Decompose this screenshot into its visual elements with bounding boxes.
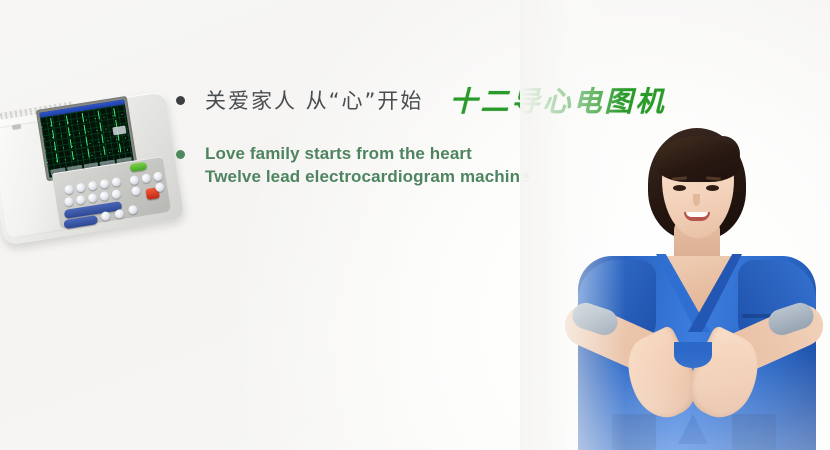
device-keypad-key[interactable] [131, 186, 141, 196]
bullet-dot-icon [176, 96, 185, 105]
device-keypad-key[interactable] [76, 195, 86, 205]
headline-row: 关爱家人 从“心”开始 十二导心电图机 [176, 78, 696, 122]
heart-gesture-notch [674, 342, 712, 368]
hip-pocket-left [612, 414, 656, 450]
english-tagline-line2: Twelve lead electrocardiogram machine [205, 165, 530, 188]
device-keypad-key[interactable] [128, 205, 138, 215]
promo-banner: 关爱家人 从“心”开始 十二导心电图机 Love family starts f… [0, 0, 830, 450]
nurse-photo [556, 128, 830, 450]
device-keypad-key[interactable] [64, 184, 74, 194]
device-keypad-key[interactable] [153, 171, 163, 181]
device-keypad-key[interactable] [99, 179, 109, 189]
chinese-tagline: 关爱家人 从“心”开始 [205, 85, 423, 115]
device-keypad-key[interactable] [111, 189, 121, 199]
device-keypad-key[interactable] [114, 209, 124, 219]
device-keypad-key[interactable] [99, 191, 109, 201]
english-text-stack: Love family starts from the heart Twelve… [205, 142, 530, 188]
device-keypad-key[interactable] [76, 183, 86, 193]
eye-right [706, 185, 719, 191]
device-keypad-key[interactable] [111, 177, 121, 187]
nose [693, 194, 700, 206]
eye-left [673, 185, 686, 191]
device-keypad-key[interactable] [155, 182, 165, 192]
hair-front [656, 136, 740, 182]
device-keypad-key[interactable] [141, 173, 151, 183]
device-keypad-key[interactable] [129, 175, 139, 185]
device-keypad-key[interactable] [88, 181, 98, 191]
hip-pocket-right [732, 414, 776, 450]
device-start-button[interactable] [129, 162, 147, 173]
device-keypad-key[interactable] [100, 211, 110, 221]
english-tagline-line1: Love family starts from the heart [205, 142, 530, 165]
ecg-machine-image [0, 84, 190, 259]
bullet-dot-icon [176, 150, 185, 159]
chinese-product-name: 十二导心电图机 [449, 80, 666, 120]
device-keypad-key[interactable] [87, 193, 97, 203]
teeth [686, 212, 708, 217]
device-keypad-key[interactable] [64, 197, 74, 207]
